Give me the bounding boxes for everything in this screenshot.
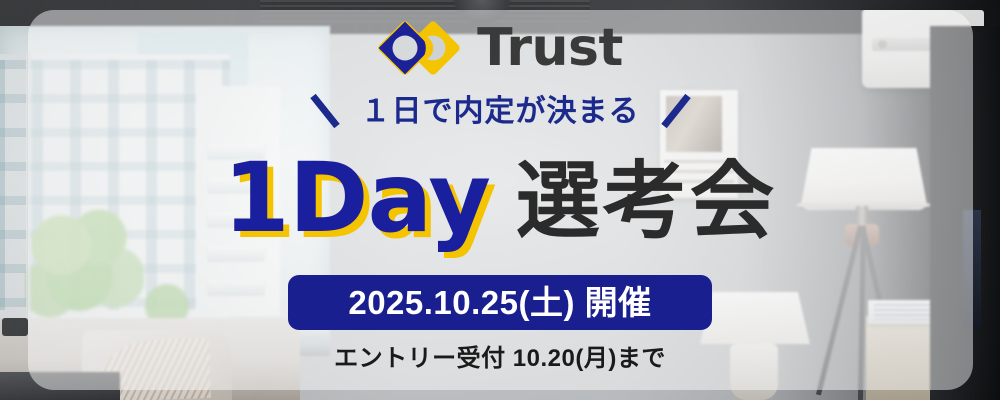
banner-content: Trust １日で内定が決まる 1Day 選考会 2025.10.25(土) 開… xyxy=(0,0,1000,400)
recruiting-event-banner: Trust １日で内定が決まる 1Day 選考会 2025.10.25(土) 開… xyxy=(0,0,1000,400)
event-date-text: 2025.10.25(土) 開催 xyxy=(348,286,651,319)
slash-left-decoration-icon xyxy=(309,92,343,132)
headline-row: 1Day 選考会 xyxy=(0,150,1000,246)
headline-1day: 1Day xyxy=(223,150,490,246)
brand-wordmark: Trust xyxy=(477,22,623,74)
trust-interlocking-diamonds-logo xyxy=(377,18,463,78)
entry-deadline-note: エントリー受付 10.20(月)まで xyxy=(0,345,1000,374)
tagline-row: １日で内定が決まる xyxy=(0,92,1000,132)
brand-logo-row: Trust xyxy=(0,18,1000,78)
event-date-badge: 2025.10.25(土) 開催 xyxy=(288,275,712,330)
slash-right-decoration-icon xyxy=(658,92,692,132)
tagline-text: １日で内定が決まる xyxy=(361,97,640,127)
headline-japanese: 選考会 xyxy=(516,159,777,246)
